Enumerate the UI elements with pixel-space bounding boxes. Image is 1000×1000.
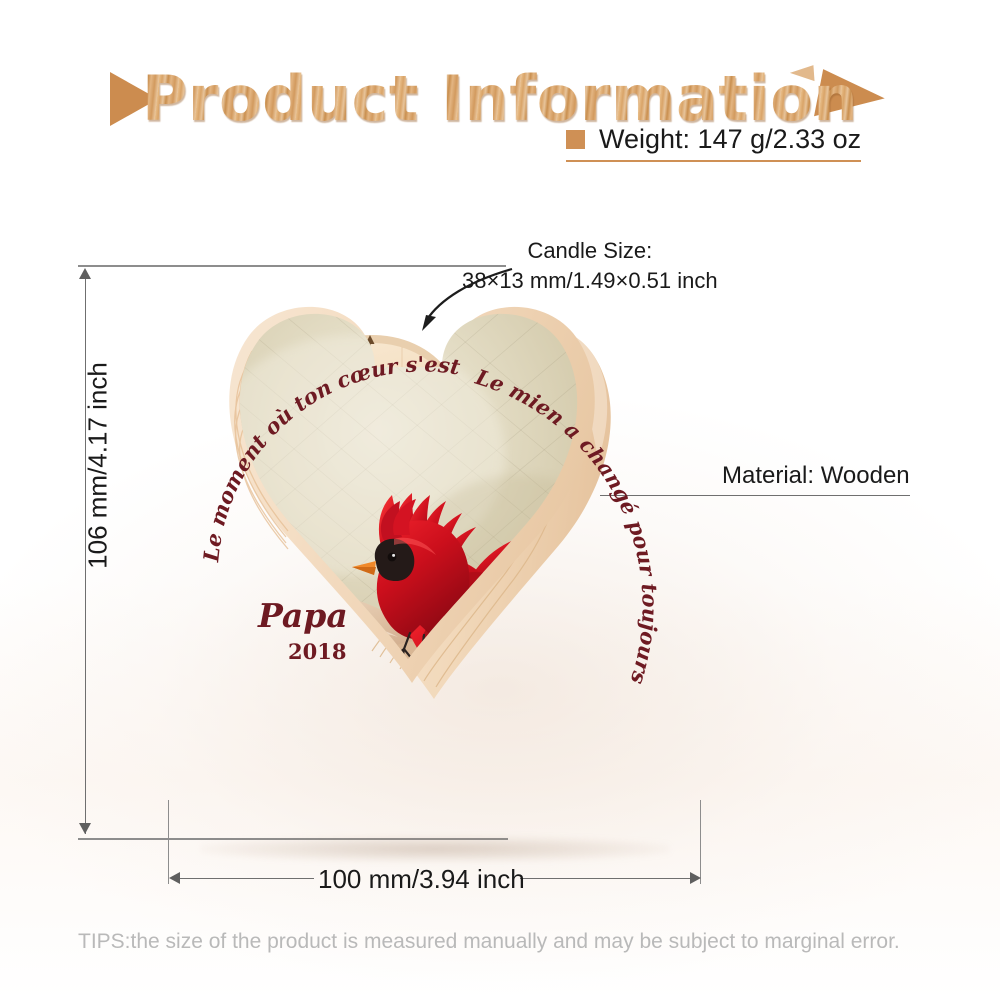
width-dimension-line-right [520, 878, 698, 879]
weight-spec: Weight: 147 g/2.33 oz [566, 124, 861, 162]
page-header: Product Information [0, 28, 1000, 138]
personalized-name: Papa [257, 596, 348, 635]
height-dimension-label: 106 mm/4.17 inch [83, 356, 114, 576]
width-dimension-line-left [172, 878, 314, 879]
weight-label: Weight: 147 g/2.33 oz [599, 124, 861, 155]
square-bullet-icon [566, 130, 585, 149]
personalized-year: 2018 [288, 639, 346, 664]
arrow-down-icon [79, 823, 91, 834]
arrow-up-icon [79, 268, 91, 279]
product-information-page: Product Information Weight: 147 g/2.33 o… [0, 0, 1000, 1000]
curved-arrow-head [422, 315, 436, 331]
product-image: Le moment où ton cœur s'est arrêté, Le m… [140, 255, 760, 875]
tips-note: TIPS:the size of the product is measured… [78, 930, 900, 954]
